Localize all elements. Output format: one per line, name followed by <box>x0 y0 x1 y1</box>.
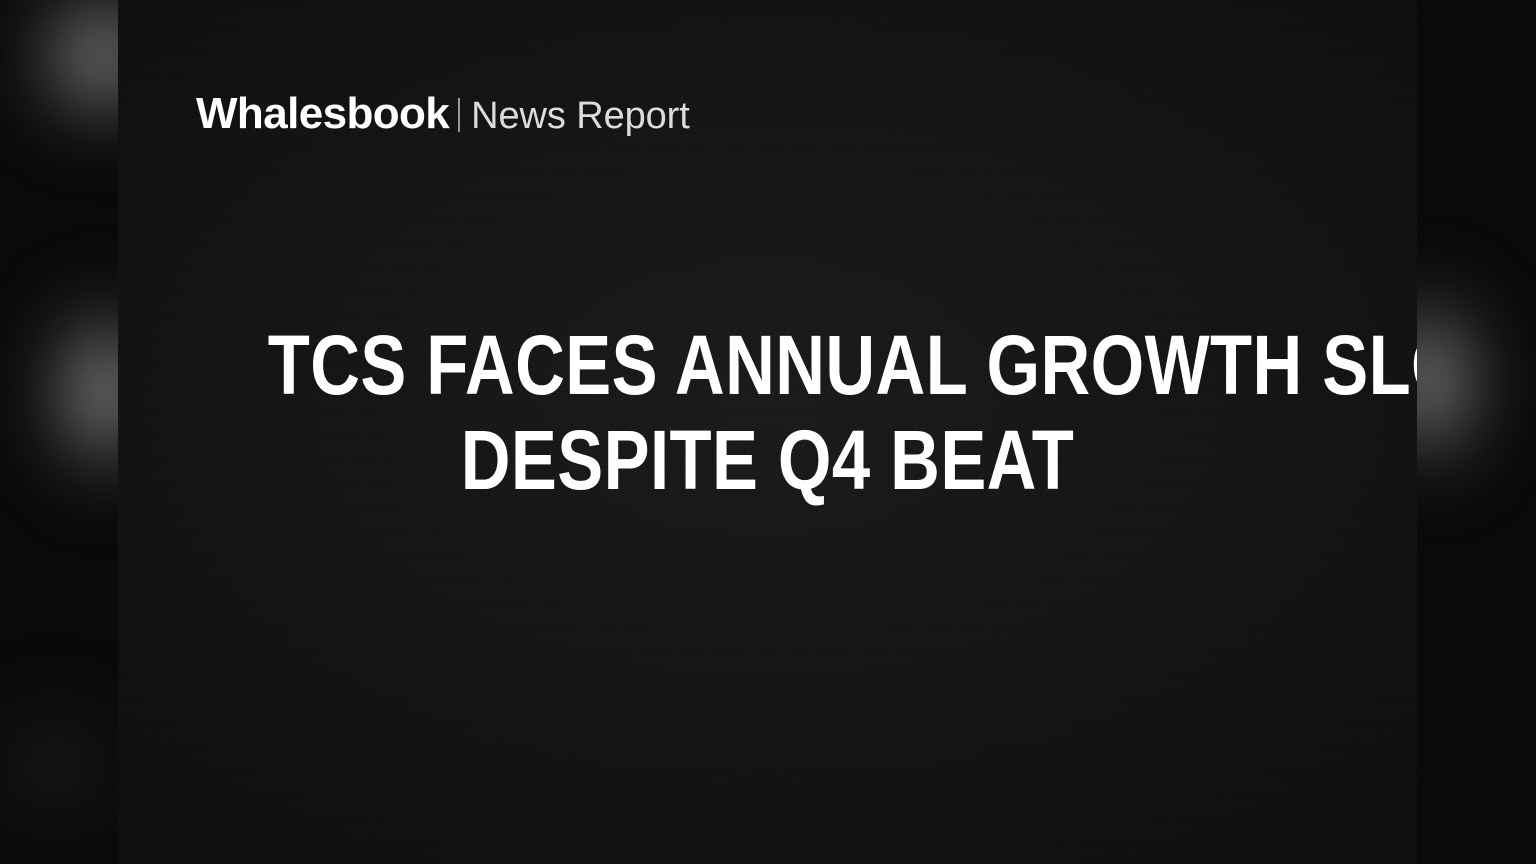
headline-line-1: TCS FACES ANNUAL GROWTH SLOWDOWN <box>268 318 1268 413</box>
headline-line-2: DESPITE Q4 BEAT <box>268 413 1268 508</box>
brand-divider-icon <box>458 98 460 132</box>
news-card: Whalesbook News Report TCS FACES ANNUAL … <box>0 0 1536 864</box>
brand-lockup: Whalesbook News Report <box>196 92 690 136</box>
content-panel: Whalesbook News Report TCS FACES ANNUAL … <box>118 0 1417 864</box>
headline: TCS FACES ANNUAL GROWTH SLOWDOWN DESPITE… <box>118 318 1417 508</box>
brand-name: Whalesbook <box>196 92 449 136</box>
brand-subtitle: News Report <box>471 97 690 135</box>
